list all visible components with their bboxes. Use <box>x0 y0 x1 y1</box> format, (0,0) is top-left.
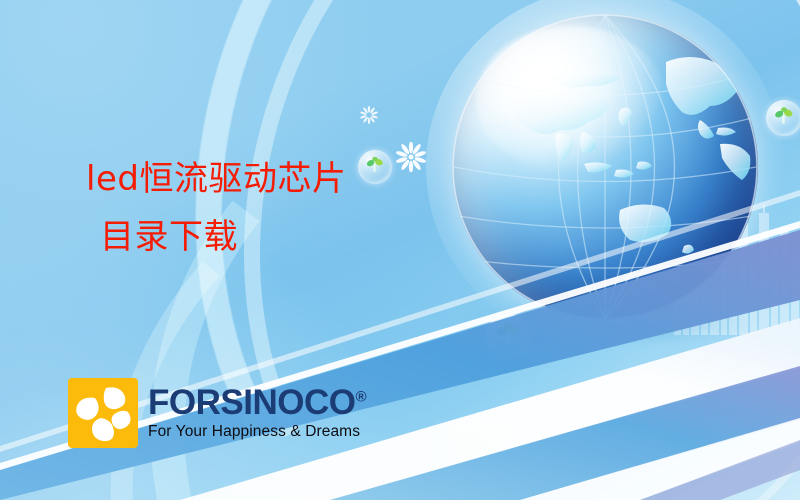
city-skyline-silhouette <box>670 205 800 335</box>
green-sprout-icon <box>364 153 386 180</box>
logo-text-block: FORSINOCO® For Your Happiness & Dreams <box>148 385 366 441</box>
logo-tagline: For Your Happiness & Dreams <box>148 423 366 441</box>
green-sprout-icon <box>493 318 523 353</box>
four-petal-pinwheel-icon <box>68 378 138 448</box>
bubble-sprout-left <box>358 150 392 184</box>
globe-shadow <box>462 300 752 346</box>
logo-wordmark-text: FORSINOCO <box>148 383 355 422</box>
headline-line-1: led恒流驱动芯片 <box>86 162 346 196</box>
headline-line-2: 目录下载 <box>86 220 346 254</box>
globe-graphic <box>452 14 758 320</box>
logo-wordmark: FORSINOCO® <box>148 385 366 420</box>
globe-sphere <box>452 14 758 320</box>
promo-banner: led恒流驱动芯片 目录下载 FORSINOCO® <box>0 0 800 500</box>
globe-rim <box>452 14 758 320</box>
green-sprout-icon <box>772 103 796 132</box>
registered-trademark-mark: ® <box>355 388 366 405</box>
sparkle-starburst-small <box>360 106 378 129</box>
headline-block: led恒流驱动芯片 目录下载 <box>86 162 346 254</box>
swirl-ribbon-g <box>362 0 800 500</box>
swirl-ribbon-f <box>308 105 800 500</box>
sparkle-starburst-large <box>396 142 426 177</box>
globe-halo <box>426 0 784 346</box>
company-logo[interactable]: FORSINOCO® For Your Happiness & Dreams <box>68 378 366 448</box>
globe-specular-highlight <box>476 26 666 173</box>
bubble-sprout-right <box>766 100 800 136</box>
bubble-sprout-bottom <box>486 314 530 358</box>
